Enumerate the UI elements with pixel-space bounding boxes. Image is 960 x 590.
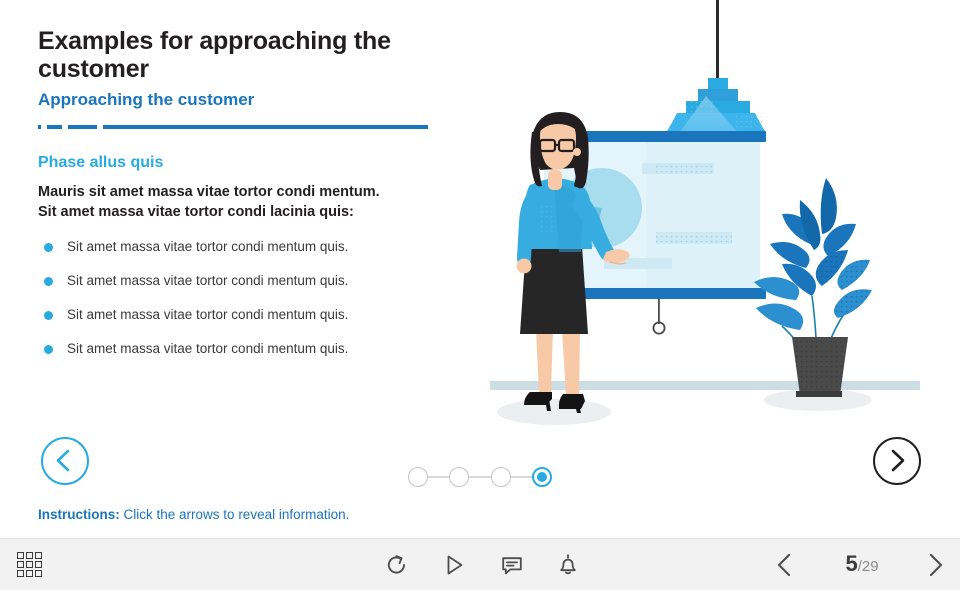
bullet-list: Sit amet massa vitae tortor condi mentum… [38,239,508,358]
notifications-button[interactable] [546,539,590,590]
chevron-right-icon [924,552,946,578]
replay-button[interactable] [375,539,419,590]
floor-line [490,381,920,390]
page-subtitle: Approaching the customer [38,91,508,110]
slide-next-button[interactable] [873,437,921,485]
bullet-dot-icon [44,345,53,354]
menu-button[interactable] [8,539,50,590]
lamp-cord [716,0,719,80]
instructions-label: Instructions: [38,507,120,522]
list-item-label: Sit amet massa vitae tortor condi mentum… [67,341,348,356]
divider-dash-short [47,125,62,129]
toolbar-prev-button[interactable] [764,539,806,590]
page-title: Examples for approaching the customer [38,28,508,83]
list-item-label: Sit amet massa vitae tortor condi mentum… [67,273,348,288]
divider-rule [103,125,428,129]
list-item-label: Sit amet massa vitae tortor condi mentum… [67,307,348,322]
divider-dot [38,125,41,129]
potted-plant [754,178,872,397]
play-button[interactable] [432,539,476,590]
text-column: Examples for approaching the customer Ap… [38,28,508,376]
list-item: Sit amet massa vitae tortor condi mentum… [38,307,508,323]
bell-icon [556,553,580,577]
step-connector [511,476,532,478]
bullet-dot-icon [44,311,53,320]
presenter-shadow [497,399,611,425]
bullet-dot-icon [44,243,53,252]
slide-prev-button[interactable] [41,437,89,485]
illustration-presenter-scene [470,0,960,440]
step-connector [469,476,490,478]
section-heading: Phase allus quis [38,154,508,172]
notes-button[interactable] [490,539,534,590]
decorative-divider [38,124,508,130]
toolbar-next-button[interactable] [914,539,956,590]
list-item: Sit amet massa vitae tortor condi mentum… [38,239,508,255]
lead-paragraph: Mauris sit amet massa vitae tortor condi… [38,182,508,223]
current-page: 5 [845,553,857,575]
step-dot-1[interactable] [408,467,428,487]
player-toolbar: 5 /29 [0,538,960,590]
notes-icon [500,553,524,577]
slide-stage: Examples for approaching the customer Ap… [0,0,960,538]
divider-dash-medium [68,125,97,129]
instructions-line: Instructions: Click the arrows to reveal… [38,507,349,522]
list-item: Sit amet massa vitae tortor condi mentum… [38,273,508,289]
chevron-right-icon [875,439,918,482]
bullet-dot-icon [44,277,53,286]
step-progress-indicator [408,466,552,488]
step-connector [428,476,449,478]
replay-icon [385,553,409,577]
list-item-label: Sit amet massa vitae tortor condi mentum… [67,239,348,254]
lead-line-2: Sit amet massa vitae tortor condi lacini… [38,204,354,220]
chevron-left-icon [43,439,86,482]
chevron-left-icon [774,552,796,578]
page-counter: 5 /29 [814,539,910,590]
grid-menu-icon [17,552,42,577]
play-icon [442,553,466,577]
step-dot-2[interactable] [449,467,469,487]
list-item: Sit amet massa vitae tortor condi mentum… [38,341,508,357]
step-dot-4[interactable] [532,467,552,487]
lead-line-1: Mauris sit amet massa vitae tortor condi… [38,184,380,200]
total-pages: /29 [858,559,879,574]
step-dot-3[interactable] [491,467,511,487]
instructions-text: Click the arrows to reveal information. [124,507,350,522]
